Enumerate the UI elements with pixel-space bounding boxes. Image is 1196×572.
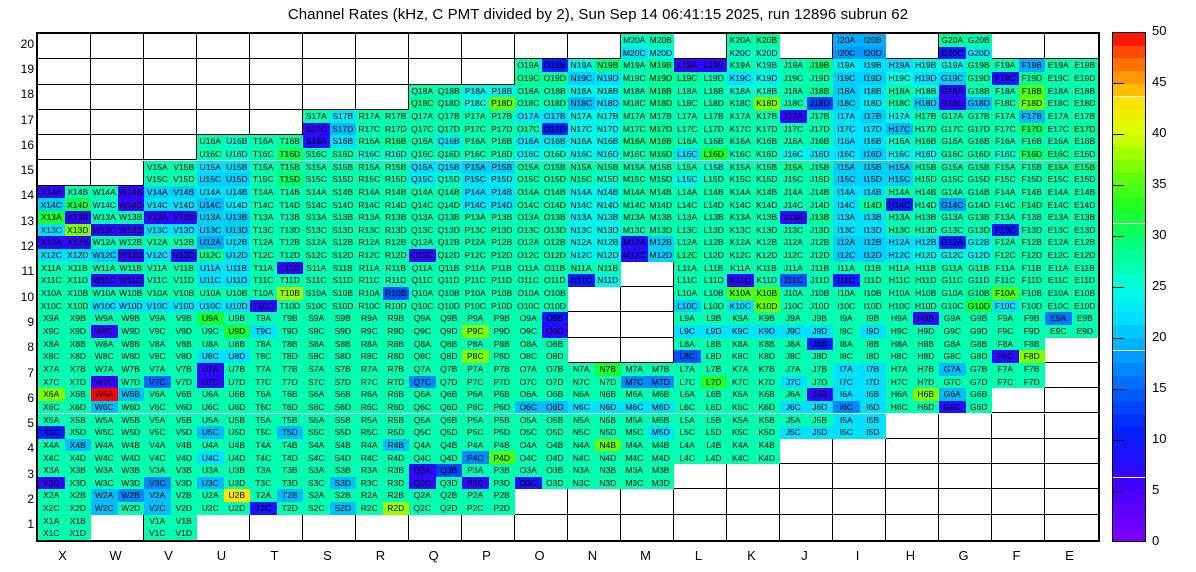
channel-cell[interactable]: O7C (515, 376, 542, 389)
channel-cell[interactable]: N5A (568, 414, 595, 427)
channel-cell[interactable]: H11B (913, 262, 940, 275)
channel-cell[interactable]: J12A (780, 236, 807, 249)
channel-cell[interactable]: U8D (224, 350, 251, 363)
channel-cell[interactable]: X5D (65, 426, 92, 439)
channel-cell[interactable]: G18C (939, 97, 966, 110)
channel-cell[interactable]: O8C (515, 350, 542, 363)
channel-cell[interactable]: F16D (1019, 148, 1046, 161)
channel-cell[interactable]: I12C (833, 249, 860, 262)
channel-cell[interactable]: K13A (727, 211, 754, 224)
channel-cell[interactable]: G7B (966, 363, 993, 376)
channel-cell[interactable]: U5B (224, 414, 251, 427)
channel-cell[interactable]: M6D (648, 401, 675, 414)
channel-cell[interactable]: W11D (118, 274, 145, 287)
channel-cell[interactable]: W7A (91, 363, 118, 376)
channel-cell[interactable]: J5C (780, 426, 807, 439)
channel-cell[interactable]: N16D (595, 148, 622, 161)
channel-cell[interactable]: X1C (38, 527, 65, 540)
channel-cell[interactable]: K16A (727, 135, 754, 148)
channel-cell[interactable]: V15B (171, 161, 198, 174)
channel-cell[interactable]: J12D (807, 249, 834, 262)
channel-cell[interactable]: T11D (277, 274, 304, 287)
channel-cell[interactable]: P12B (489, 236, 516, 249)
channel-cell[interactable]: N17C (568, 123, 595, 136)
channel-cell[interactable]: I19C (833, 72, 860, 85)
channel-cell[interactable]: X12D (65, 249, 92, 262)
channel-cell[interactable]: R8C (356, 350, 383, 363)
channel-cell[interactable]: X10B (65, 287, 92, 300)
channel-cell[interactable]: J14B (807, 186, 834, 199)
channel-cell[interactable]: Q3B (436, 464, 463, 477)
channel-cell[interactable]: V5D (171, 426, 198, 439)
channel-cell[interactable]: W14B (118, 186, 145, 199)
channel-cell[interactable]: O17D (542, 123, 569, 136)
channel-cell[interactable]: M7B (648, 363, 675, 376)
channel-cell[interactable]: W3A (91, 464, 118, 477)
channel-cell[interactable]: O13C (515, 224, 542, 237)
channel-cell[interactable]: J5B (807, 414, 834, 427)
channel-cell[interactable]: H17B (913, 110, 940, 123)
channel-cell[interactable]: H9C (886, 325, 913, 338)
channel-cell[interactable]: W10D (118, 300, 145, 313)
channel-cell[interactable]: O12B (542, 236, 569, 249)
channel-cell[interactable]: W13B (118, 211, 145, 224)
channel-cell[interactable]: I17C (833, 123, 860, 136)
channel-cell[interactable]: Q4D (436, 451, 463, 464)
channel-cell[interactable]: J9A (780, 312, 807, 325)
channel-cell[interactable]: U4A (197, 439, 224, 452)
channel-cell[interactable]: N6B (595, 388, 622, 401)
channel-cell[interactable]: L13B (701, 211, 728, 224)
channel-cell[interactable]: R12B (383, 236, 410, 249)
channel-cell[interactable]: P12A (462, 236, 489, 249)
channel-cell[interactable]: P16B (489, 135, 516, 148)
channel-cell[interactable]: L8A (674, 338, 701, 351)
channel-cell[interactable]: O9A (515, 312, 542, 325)
channel-cell[interactable]: J10D (807, 300, 834, 313)
channel-cell[interactable]: K18B (754, 85, 781, 98)
channel-cell[interactable]: W2D (118, 502, 145, 515)
channel-cell[interactable]: I15B (860, 161, 887, 174)
channel-cell[interactable]: J15D (807, 173, 834, 186)
channel-cell[interactable]: L11B (701, 262, 728, 275)
channel-cell[interactable]: V6D (171, 401, 198, 414)
channel-cell[interactable]: T12C (250, 249, 277, 262)
channel-cell[interactable]: O11C (515, 274, 542, 287)
channel-cell[interactable]: K11B (754, 262, 781, 275)
channel-cell[interactable]: H18D (913, 97, 940, 110)
channel-cell[interactable]: O12C (515, 249, 542, 262)
channel-cell[interactable]: K9C (727, 325, 754, 338)
channel-cell[interactable]: H6B (913, 388, 940, 401)
channel-cell[interactable]: K15D (754, 173, 781, 186)
channel-cell[interactable]: L6A (674, 388, 701, 401)
channel-cell[interactable]: K20C (727, 47, 754, 60)
channel-cell[interactable]: F8D (1019, 350, 1046, 363)
channel-cell[interactable]: O12A (515, 236, 542, 249)
channel-cell[interactable]: G6D (966, 401, 993, 414)
channel-cell[interactable]: P15D (489, 173, 516, 186)
channel-cell[interactable]: V14B (171, 186, 198, 199)
channel-cell[interactable]: L17B (701, 110, 728, 123)
channel-cell[interactable]: R4B (383, 439, 410, 452)
channel-cell[interactable]: N18B (595, 85, 622, 98)
channel-cell[interactable]: S10D (330, 300, 357, 313)
channel-cell[interactable]: L11A (674, 262, 701, 275)
channel-cell[interactable]: T7B (277, 363, 304, 376)
channel-cell[interactable]: J13D (807, 224, 834, 237)
channel-cell[interactable]: V12B (171, 236, 198, 249)
channel-cell[interactable]: P2C (462, 502, 489, 515)
channel-cell[interactable]: M17A (621, 110, 648, 123)
channel-cell[interactable]: O19D (542, 72, 569, 85)
channel-cell[interactable]: P14D (489, 198, 516, 211)
channel-cell[interactable]: F16B (1019, 135, 1046, 148)
channel-cell[interactable]: M7D (648, 376, 675, 389)
channel-cell[interactable]: P15A (462, 161, 489, 174)
channel-cell[interactable]: E17B (1072, 110, 1099, 123)
channel-cell[interactable]: U16A (197, 135, 224, 148)
channel-cell[interactable]: O3D (542, 477, 569, 490)
channel-cell[interactable]: L19C (674, 72, 701, 85)
channel-cell[interactable]: R17A (356, 110, 383, 123)
channel-cell[interactable]: F15B (1019, 161, 1046, 174)
channel-cell[interactable]: S9C (303, 325, 330, 338)
channel-cell[interactable]: W13C (91, 224, 118, 237)
channel-cell[interactable]: I9B (860, 312, 887, 325)
channel-cell[interactable]: W8B (118, 338, 145, 351)
channel-cell[interactable]: W2B (118, 489, 145, 502)
channel-cell[interactable]: S3D (330, 477, 357, 490)
channel-cell[interactable]: O3C (515, 477, 542, 490)
channel-cell[interactable]: K6C (727, 401, 754, 414)
channel-cell[interactable]: K5C (727, 426, 754, 439)
channel-cell[interactable]: K7C (727, 376, 754, 389)
channel-cell[interactable]: U15A (197, 161, 224, 174)
channel-cell[interactable]: N17A (568, 110, 595, 123)
channel-cell[interactable]: T3D (277, 477, 304, 490)
channel-cell[interactable]: V8A (144, 338, 171, 351)
channel-cell[interactable]: O5B (542, 414, 569, 427)
channel-cell[interactable]: I7B (860, 363, 887, 376)
channel-cell[interactable]: Q17A (409, 110, 436, 123)
channel-cell[interactable]: M5A (621, 414, 648, 427)
channel-cell[interactable]: Q3D (436, 477, 463, 490)
channel-cell[interactable]: X2A (38, 489, 65, 502)
channel-cell[interactable]: I8C (833, 350, 860, 363)
channel-cell[interactable]: Q5A (409, 414, 436, 427)
channel-cell[interactable]: Q5B (436, 414, 463, 427)
channel-cell[interactable]: H7C (886, 376, 913, 389)
channel-cell[interactable]: J17A (780, 110, 807, 123)
channel-cell[interactable]: L15C (674, 173, 701, 186)
channel-cell[interactable]: R9D (383, 325, 410, 338)
channel-cell[interactable]: R9B (383, 312, 410, 325)
channel-cell[interactable]: O18C (515, 97, 542, 110)
channel-cell[interactable]: L6C (674, 401, 701, 414)
channel-cell[interactable]: S11B (330, 262, 357, 275)
channel-cell[interactable]: V4A (144, 439, 171, 452)
channel-cell[interactable]: W5A (91, 414, 118, 427)
channel-cell[interactable]: T6B (277, 388, 304, 401)
channel-cell[interactable]: X5A (38, 414, 65, 427)
channel-cell[interactable]: L14C (674, 198, 701, 211)
channel-cell[interactable]: K13D (754, 224, 781, 237)
channel-cell[interactable]: M16A (621, 135, 648, 148)
channel-cell[interactable]: M13C (621, 224, 648, 237)
channel-cell[interactable]: H12C (886, 249, 913, 262)
channel-cell[interactable]: Q11B (436, 262, 463, 275)
channel-cell[interactable]: N7D (595, 376, 622, 389)
channel-cell[interactable]: L15B (701, 161, 728, 174)
channel-cell[interactable]: O8A (515, 338, 542, 351)
channel-cell[interactable]: I13C (833, 224, 860, 237)
channel-cell[interactable]: M14B (648, 186, 675, 199)
channel-cell[interactable]: L4A (674, 439, 701, 452)
channel-cell[interactable]: N14D (595, 198, 622, 211)
channel-cell[interactable]: G10D (966, 300, 993, 313)
channel-cell[interactable]: U9B (224, 312, 251, 325)
channel-cell[interactable]: W3B (118, 464, 145, 477)
channel-cell[interactable]: O3B (542, 464, 569, 477)
channel-cell[interactable]: V13B (171, 211, 198, 224)
channel-cell[interactable]: J14C (780, 198, 807, 211)
channel-cell[interactable]: P9D (489, 325, 516, 338)
channel-cell[interactable]: I16C (833, 148, 860, 161)
channel-cell[interactable]: U10C (197, 300, 224, 313)
channel-cell[interactable]: G12C (939, 249, 966, 262)
channel-cell[interactable]: U2C (197, 502, 224, 515)
channel-cell[interactable]: J18B (807, 85, 834, 98)
channel-cell[interactable]: S5B (330, 414, 357, 427)
channel-cell[interactable]: O6D (542, 401, 569, 414)
channel-cell[interactable]: G19C (939, 72, 966, 85)
channel-cell[interactable]: R15A (356, 161, 383, 174)
channel-cell[interactable]: J10C (780, 300, 807, 313)
channel-cell[interactable]: J8D (807, 350, 834, 363)
channel-cell[interactable]: H15B (913, 161, 940, 174)
channel-cell[interactable]: E18B (1072, 85, 1099, 98)
channel-cell[interactable]: T9D (277, 325, 304, 338)
channel-cell[interactable]: Q10C (409, 300, 436, 313)
channel-cell[interactable]: E13C (1045, 224, 1072, 237)
channel-cell[interactable]: S11C (303, 274, 330, 287)
channel-cell[interactable]: F11B (1019, 262, 1046, 275)
channel-cell[interactable]: I18A (833, 85, 860, 98)
channel-cell[interactable]: Q14A (409, 186, 436, 199)
channel-cell[interactable]: E17C (1045, 123, 1072, 136)
channel-cell[interactable]: P5C (462, 426, 489, 439)
channel-cell[interactable]: P2A (462, 489, 489, 502)
channel-cell[interactable]: U11B (224, 262, 251, 275)
channel-cell[interactable]: U5D (224, 426, 251, 439)
channel-cell[interactable]: Q8D (436, 350, 463, 363)
channel-cell[interactable]: I18D (860, 97, 887, 110)
channel-cell[interactable]: W7D (118, 376, 145, 389)
channel-cell[interactable]: K17C (727, 123, 754, 136)
channel-cell[interactable]: S6C (303, 401, 330, 414)
channel-cell[interactable]: N5C (568, 426, 595, 439)
channel-cell[interactable]: U15D (224, 173, 251, 186)
channel-cell[interactable]: P8A (462, 338, 489, 351)
channel-cell[interactable]: M19C (621, 72, 648, 85)
channel-cell[interactable]: W8A (91, 338, 118, 351)
channel-cell[interactable]: R5D (383, 426, 410, 439)
channel-cell[interactable]: V5A (144, 414, 171, 427)
channel-cell[interactable]: Q18A (409, 85, 436, 98)
channel-cell[interactable]: X9B (65, 312, 92, 325)
channel-cell[interactable]: F9C (992, 325, 1019, 338)
channel-cell[interactable]: H19B (913, 59, 940, 72)
channel-cell[interactable]: R13D (383, 224, 410, 237)
channel-cell[interactable]: N18C (568, 97, 595, 110)
channel-cell[interactable]: E19D (1072, 72, 1099, 85)
channel-cell[interactable]: U3D (224, 477, 251, 490)
channel-cell[interactable]: X11A (38, 262, 65, 275)
channel-cell[interactable]: K20A (727, 34, 754, 47)
channel-cell[interactable]: G16B (966, 135, 993, 148)
channel-cell[interactable]: L16C (674, 148, 701, 161)
channel-cell[interactable]: K4A (727, 439, 754, 452)
channel-cell[interactable]: I5A (833, 414, 860, 427)
channel-cell[interactable]: O16D (542, 148, 569, 161)
channel-cell[interactable]: L18D (701, 97, 728, 110)
channel-cell[interactable]: I10A (833, 287, 860, 300)
channel-cell[interactable]: E12D (1072, 249, 1099, 262)
channel-cell[interactable]: T8C (250, 350, 277, 363)
channel-cell[interactable]: K15B (754, 161, 781, 174)
channel-cell[interactable]: M3A (621, 464, 648, 477)
channel-cell[interactable]: T15B (277, 161, 304, 174)
channel-cell[interactable]: O9B (542, 312, 569, 325)
channel-cell[interactable]: F18B (1019, 85, 1046, 98)
channel-cell[interactable]: P10C (462, 300, 489, 313)
channel-cell[interactable]: Q17B (436, 110, 463, 123)
channel-cell[interactable]: R17D (383, 123, 410, 136)
channel-cell[interactable]: T6C (250, 401, 277, 414)
channel-cell[interactable]: U4B (224, 439, 251, 452)
channel-cell[interactable]: P8D (489, 350, 516, 363)
channel-cell[interactable]: I15A (833, 161, 860, 174)
channel-cell[interactable]: W10A (91, 287, 118, 300)
channel-cell[interactable]: N3A (568, 464, 595, 477)
channel-cell[interactable]: U3C (197, 477, 224, 490)
channel-cell[interactable]: W5B (118, 414, 145, 427)
channel-cell[interactable]: O8D (542, 350, 569, 363)
channel-cell[interactable]: V5B (171, 414, 198, 427)
channel-cell[interactable]: N4D (595, 451, 622, 464)
channel-cell[interactable]: N11A (568, 262, 595, 275)
channel-cell[interactable]: J19D (807, 72, 834, 85)
channel-cell[interactable]: I12D (860, 249, 887, 262)
channel-cell[interactable]: O6C (515, 401, 542, 414)
channel-cell[interactable]: M5B (648, 414, 675, 427)
channel-cell[interactable]: P4D (489, 451, 516, 464)
channel-cell[interactable]: N12B (595, 236, 622, 249)
channel-cell[interactable]: F11D (1019, 274, 1046, 287)
channel-cell[interactable]: W4D (118, 451, 145, 464)
channel-cell[interactable]: F19A (992, 59, 1019, 72)
channel-cell[interactable]: P14C (462, 198, 489, 211)
channel-cell[interactable]: F9B (1019, 312, 1046, 325)
channel-cell[interactable]: V3A (144, 464, 171, 477)
channel-cell[interactable]: V10A (144, 287, 171, 300)
channel-cell[interactable]: M19D (648, 72, 675, 85)
channel-cell[interactable]: T10B (277, 287, 304, 300)
channel-cell[interactable]: L12D (701, 249, 728, 262)
channel-cell[interactable]: X12B (65, 236, 92, 249)
channel-cell[interactable]: N12C (568, 249, 595, 262)
channel-cell[interactable]: K19C (727, 72, 754, 85)
channel-cell[interactable]: G13D (966, 224, 993, 237)
channel-cell[interactable]: V12A (144, 236, 171, 249)
channel-cell[interactable]: Q15C (409, 173, 436, 186)
channel-cell[interactable]: X2B (65, 489, 92, 502)
channel-cell[interactable]: L14D (701, 198, 728, 211)
channel-cell[interactable]: G12A (939, 236, 966, 249)
channel-cell[interactable]: Q15B (436, 161, 463, 174)
channel-cell[interactable]: F7D (1019, 376, 1046, 389)
channel-cell[interactable]: G20D (966, 47, 993, 60)
channel-cell[interactable]: I16D (860, 148, 887, 161)
channel-cell[interactable]: J7A (780, 363, 807, 376)
channel-cell[interactable]: W3D (118, 477, 145, 490)
channel-cell[interactable]: R2B (383, 489, 410, 502)
channel-cell[interactable]: J16D (807, 148, 834, 161)
channel-cell[interactable]: J13C (780, 224, 807, 237)
channel-cell[interactable]: Q18C (409, 97, 436, 110)
channel-cell[interactable]: Q11D (436, 274, 463, 287)
channel-cell[interactable]: Q6B (436, 388, 463, 401)
channel-cell[interactable]: J15A (780, 161, 807, 174)
channel-cell[interactable]: S8B (330, 338, 357, 351)
channel-cell[interactable]: E13A (1045, 211, 1072, 224)
channel-cell[interactable]: P13D (489, 224, 516, 237)
channel-cell[interactable]: K11C (727, 274, 754, 287)
channel-cell[interactable]: H7B (913, 363, 940, 376)
channel-cell[interactable]: W12B (118, 236, 145, 249)
channel-cell[interactable]: O10C (515, 300, 542, 313)
channel-cell[interactable]: S10C (303, 300, 330, 313)
channel-cell[interactable]: P3C (462, 477, 489, 490)
channel-cell[interactable]: R11C (356, 274, 383, 287)
channel-cell[interactable]: X6A (38, 388, 65, 401)
channel-cell[interactable]: K19A (727, 59, 754, 72)
channel-cell[interactable]: K11A (727, 262, 754, 275)
channel-cell[interactable]: F17C (992, 123, 1019, 136)
channel-cell[interactable]: K10D (754, 300, 781, 313)
channel-cell[interactable]: P11B (489, 262, 516, 275)
channel-cell[interactable]: T4D (277, 451, 304, 464)
channel-cell[interactable]: F16C (992, 148, 1019, 161)
channel-cell[interactable]: F18A (992, 85, 1019, 98)
channel-cell[interactable]: N13D (595, 224, 622, 237)
channel-cell[interactable]: K12D (754, 249, 781, 262)
channel-cell[interactable]: V1C (144, 527, 171, 540)
channel-cell[interactable]: H9A (886, 312, 913, 325)
channel-cell[interactable]: M4C (621, 451, 648, 464)
channel-cell[interactable]: F12B (1019, 236, 1046, 249)
channel-cell[interactable]: L6D (701, 401, 728, 414)
channel-cell[interactable]: L11D (701, 274, 728, 287)
channel-cell[interactable]: E14D (1072, 198, 1099, 211)
channel-cell[interactable]: M17D (648, 123, 675, 136)
channel-cell[interactable]: P13B (489, 211, 516, 224)
channel-cell[interactable]: V4B (171, 439, 198, 452)
channel-cell[interactable]: X4B (65, 439, 92, 452)
channel-cell[interactable]: K9D (754, 325, 781, 338)
channel-cell[interactable]: R4C (356, 451, 383, 464)
